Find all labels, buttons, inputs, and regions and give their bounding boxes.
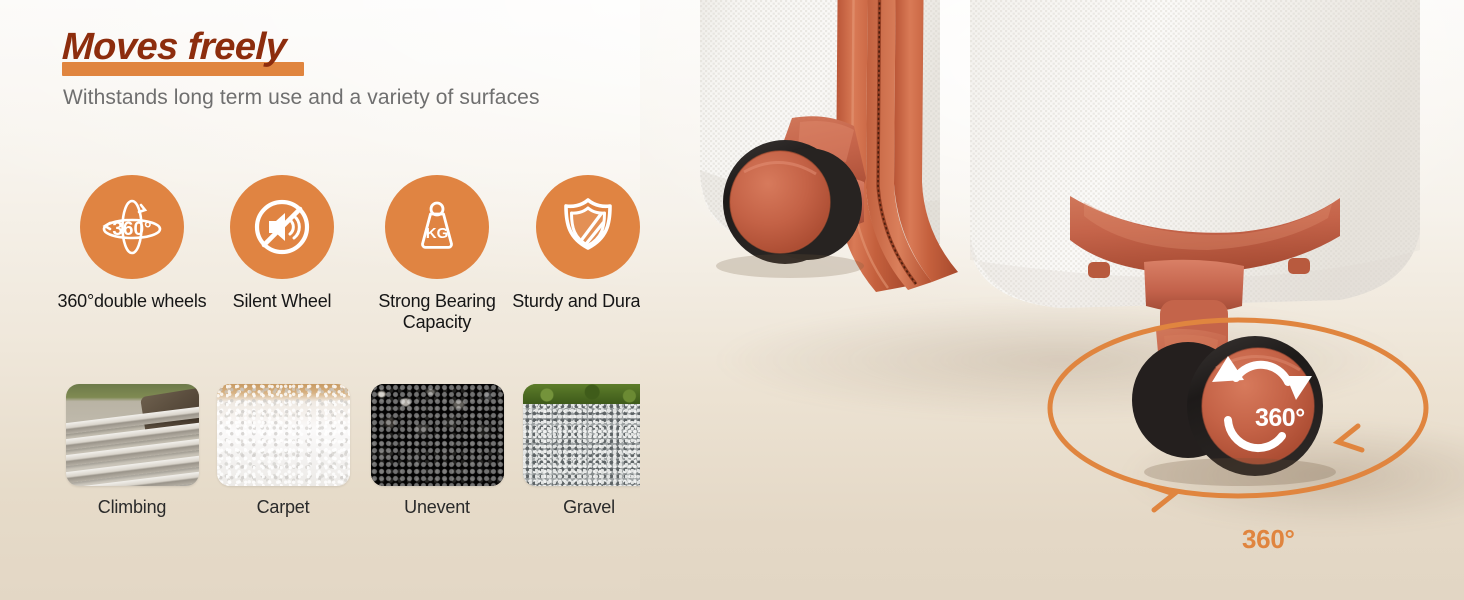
rotate-360-icon: 360°	[96, 191, 168, 263]
svg-text:KG: KG	[426, 225, 449, 242]
feature-item-360-double-wheels: 360° 360°double wheels	[52, 175, 212, 312]
surface-label: Unevent	[357, 497, 517, 518]
rotation-360-label: 360°	[1242, 524, 1295, 555]
product-photo	[640, 0, 1464, 600]
feature-label: Silent Wheel	[202, 291, 362, 312]
surface-label: Climbing	[52, 497, 212, 518]
gravel-thumbnail	[523, 384, 656, 486]
feature-label: Strong Bearing Capacity	[357, 291, 517, 333]
feature-item-silent-wheel: Silent Wheel	[202, 175, 362, 312]
page-title: Moves freely	[61, 28, 287, 66]
page-title-wrap: Moves freely	[62, 28, 286, 66]
page-subtitle: Withstands long term use and a variety o…	[63, 86, 540, 110]
white-carpet-thumbnail	[217, 384, 350, 486]
stone-steps-thumbnail	[66, 384, 199, 486]
info-panel: Moves freely Withstands long term use an…	[0, 0, 700, 600]
feature-label: 360°double wheels	[52, 291, 212, 312]
surface-item-carpet: Carpet	[203, 384, 363, 518]
svg-text:360°: 360°	[112, 219, 151, 240]
feature-icon-badge: KG	[385, 175, 489, 279]
suitcase-illustration	[640, 0, 1464, 600]
feature-icon-badge	[536, 175, 640, 279]
mute-speaker-icon	[249, 194, 315, 260]
feature-icon-badge: 360°	[80, 175, 184, 279]
surface-item-climbing: Climbing	[52, 384, 212, 518]
kg-weight-icon: KG	[404, 194, 470, 260]
shield-icon	[555, 194, 621, 260]
feature-item-strong-bearing-capacity: KG Strong Bearing Capacity	[357, 175, 517, 333]
surface-label: Carpet	[203, 497, 363, 518]
surface-item-unevent: Unevent	[357, 384, 517, 518]
cobblestone-thumbnail	[371, 384, 504, 486]
feature-icon-badge	[230, 175, 334, 279]
